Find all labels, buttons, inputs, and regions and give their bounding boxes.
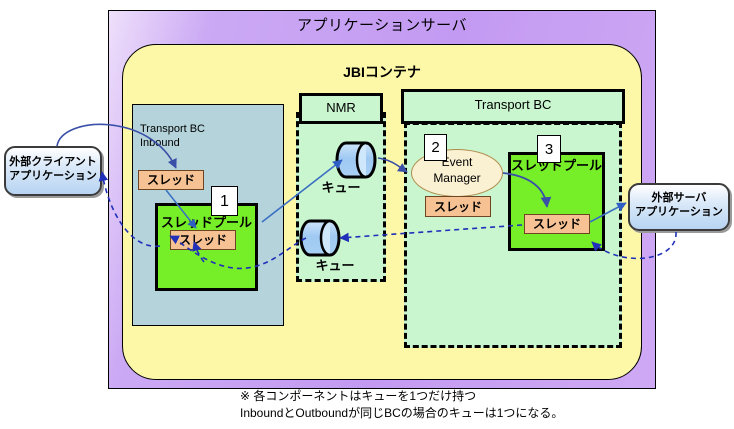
transport-bc-inbound-label: Transport BC Inbound: [140, 122, 280, 150]
caption-line-1: ※ 各コンポーネントはキューを1つだけ持つ: [240, 388, 660, 405]
transport-bc-inbound-label-line1: Transport BC: [140, 122, 280, 136]
transport-bc-pool-thread-chip: スレッド: [524, 214, 590, 234]
diagram-caption: ※ 各コンポーネントはキューを1つだけ持つ InboundとOutboundが同…: [240, 388, 660, 422]
inbound-pool-thread-chip: スレッド: [170, 230, 236, 250]
external-server-application-label: 外部サーバ アプリケーション: [628, 191, 730, 219]
diagram-canvas: アプリケーションサーバ JBIコンテナ Transport BC Inbound…: [0, 0, 734, 429]
external-server-label-line1: 外部サーバ: [628, 191, 730, 205]
inbound-thread-pool-title: スレッドプール: [155, 212, 258, 231]
external-client-application-label: 外部クライアント アプリケーション: [4, 155, 102, 183]
external-client-label-line2: アプリケーション: [4, 169, 102, 183]
transport-bc-inbound-label-line2: Inbound: [140, 136, 280, 150]
nmr-queue-bottom-label: キュー: [290, 255, 380, 274]
event-manager-label-line2: Manager: [411, 170, 503, 186]
inbound-thread-chip: スレッド: [138, 170, 204, 190]
step-badge-1: 1: [211, 186, 238, 216]
external-server-label-line2: アプリケーション: [628, 205, 730, 219]
caption-line-2: InboundとOutboundが同じBCの場合のキューは1つになる。: [240, 405, 660, 422]
nmr-title: NMR: [299, 100, 383, 115]
step-badge-3: 3: [537, 135, 561, 163]
step-badge-2: 2: [424, 134, 447, 161]
application-server-title: アプリケーションサーバ: [108, 14, 656, 35]
transport-bc-title: Transport BC: [401, 97, 625, 112]
event-manager-thread-chip-label: スレッド: [425, 198, 491, 215]
nmr-queue-top-label: キュー: [296, 177, 386, 196]
external-client-label-line1: 外部クライアント: [4, 155, 102, 169]
jbi-container-title: JBIコンテナ: [122, 62, 642, 82]
